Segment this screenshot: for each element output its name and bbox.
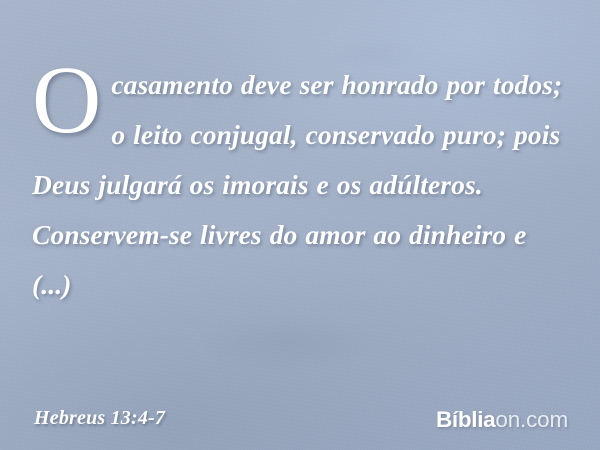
- verse-text: casamento deve ser honrado por todos; o …: [32, 69, 562, 300]
- logo-tld-text: on.com: [495, 407, 568, 432]
- verse-reference: Hebreus 13:4-7: [34, 407, 165, 430]
- verse-dropcap: O: [32, 60, 101, 139]
- footer-bar: Hebreus 13:4-7 Bíbliaon.com: [0, 388, 600, 450]
- verse-image-card: O casamento deve ser honrado por todos; …: [0, 0, 600, 450]
- verse-block: O casamento deve ser honrado por todos; …: [32, 60, 570, 310]
- bibliaon-logo[interactable]: Bíbliaon.com: [436, 409, 568, 432]
- logo-brand-text: Bíblia: [436, 407, 495, 432]
